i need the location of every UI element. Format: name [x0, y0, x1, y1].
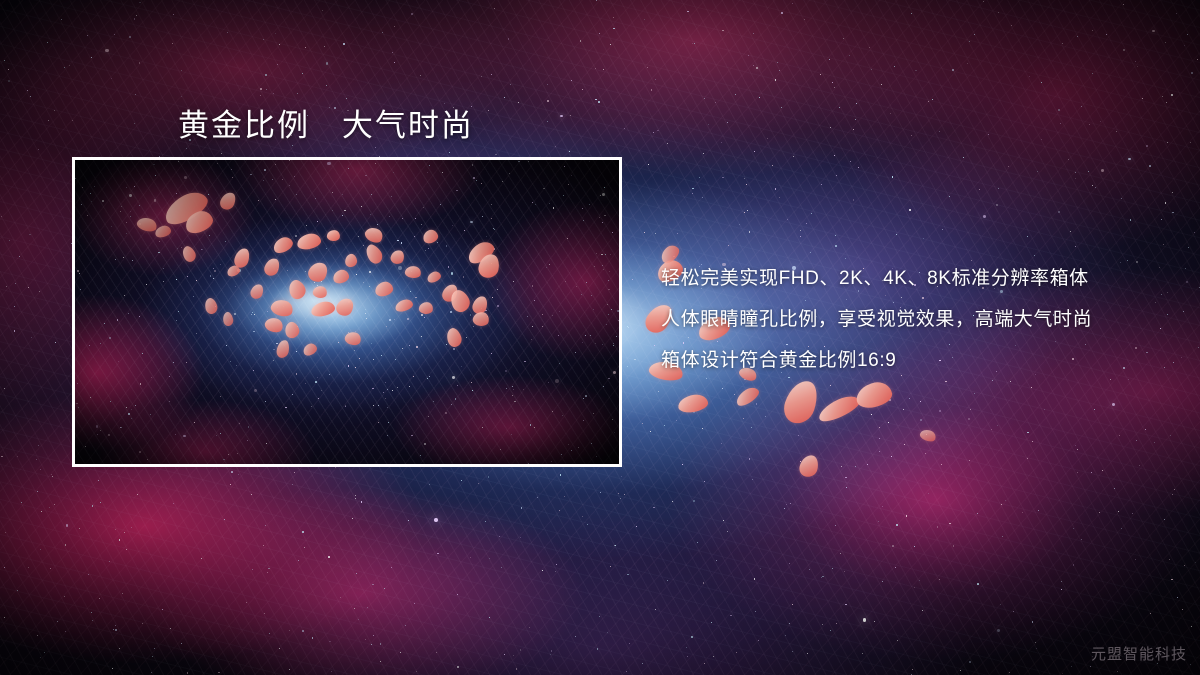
- star: [115, 629, 117, 631]
- star: [273, 360, 274, 361]
- star: [493, 228, 494, 229]
- star: [653, 507, 655, 509]
- star: [154, 648, 155, 649]
- star: [234, 313, 236, 315]
- star: [551, 650, 553, 652]
- star: [416, 671, 417, 672]
- star: [461, 366, 462, 367]
- star: [92, 505, 93, 506]
- star: [542, 326, 543, 327]
- star: [121, 427, 122, 428]
- star: [346, 98, 347, 99]
- star: [209, 235, 210, 236]
- star: [100, 343, 101, 344]
- star: [1101, 169, 1104, 172]
- star: [756, 403, 757, 404]
- star: [1161, 219, 1162, 220]
- star: [221, 153, 222, 154]
- star: [549, 264, 550, 265]
- star: [518, 161, 519, 162]
- star: [1005, 500, 1006, 501]
- star: [102, 200, 104, 202]
- star: [1171, 579, 1172, 580]
- star: [612, 419, 613, 420]
- star: [326, 85, 327, 86]
- star: [723, 520, 724, 521]
- star: [752, 479, 753, 480]
- star: [451, 404, 452, 405]
- star: [50, 568, 51, 569]
- star: [411, 13, 413, 15]
- star: [1092, 185, 1093, 186]
- star: [1044, 409, 1045, 410]
- star: [551, 461, 552, 462]
- star: [542, 570, 543, 571]
- star: [1145, 429, 1146, 430]
- star: [491, 218, 492, 219]
- star: [832, 82, 833, 83]
- star: [36, 459, 37, 460]
- star: [324, 46, 325, 47]
- star: [213, 268, 214, 269]
- star: [501, 567, 502, 568]
- star: [40, 469, 41, 470]
- star: [1152, 30, 1154, 32]
- star: [650, 431, 651, 432]
- star: [135, 405, 136, 406]
- star: [497, 289, 498, 290]
- star: [382, 32, 383, 33]
- star: [85, 446, 86, 447]
- star: [92, 620, 93, 621]
- star: [598, 101, 600, 103]
- star: [427, 172, 428, 173]
- star: [214, 270, 216, 272]
- star: [429, 376, 430, 377]
- star: [721, 443, 722, 444]
- star: [38, 149, 39, 150]
- star: [237, 453, 238, 454]
- star: [1075, 172, 1076, 173]
- star: [1073, 564, 1074, 565]
- star: [326, 248, 327, 249]
- star: [486, 236, 487, 237]
- star: [583, 398, 584, 399]
- star: [266, 465, 267, 466]
- star: [547, 84, 548, 85]
- star: [210, 275, 211, 276]
- star: [275, 199, 276, 200]
- star: [72, 120, 73, 121]
- star: [453, 348, 455, 350]
- star: [564, 496, 565, 497]
- star: [608, 289, 609, 290]
- star: [1073, 528, 1074, 529]
- star: [581, 294, 582, 295]
- star: [158, 252, 160, 254]
- star: [250, 174, 251, 175]
- star: [49, 507, 50, 508]
- star: [387, 435, 388, 436]
- star: [176, 320, 177, 321]
- star: [667, 143, 668, 144]
- star: [296, 194, 297, 195]
- star: [514, 401, 515, 402]
- star: [1070, 231, 1071, 232]
- star: [571, 175, 572, 176]
- star: [134, 186, 135, 187]
- star: [753, 65, 754, 66]
- star: [968, 418, 970, 420]
- star: [703, 153, 704, 154]
- star: [289, 630, 290, 631]
- star: [124, 295, 125, 296]
- star: [409, 386, 410, 387]
- star: [99, 598, 100, 599]
- star: [77, 383, 78, 384]
- star: [613, 345, 614, 346]
- star: [532, 285, 534, 287]
- star: [792, 604, 793, 605]
- star: [289, 669, 290, 670]
- petal: [780, 376, 822, 427]
- star: [531, 339, 532, 340]
- star: [613, 343, 614, 344]
- star: [1116, 131, 1117, 132]
- star: [457, 666, 459, 668]
- star: [463, 276, 464, 277]
- star: [534, 300, 535, 301]
- star: [983, 215, 986, 218]
- star: [461, 480, 462, 481]
- star: [1100, 121, 1101, 122]
- star: [377, 224, 378, 225]
- star: [356, 274, 357, 275]
- star: [967, 63, 968, 64]
- star: [425, 250, 426, 251]
- star: [201, 249, 202, 250]
- star: [457, 385, 458, 386]
- star: [664, 425, 665, 426]
- star: [610, 566, 611, 567]
- star: [489, 617, 490, 618]
- star: [1041, 82, 1042, 83]
- star: [375, 163, 376, 164]
- star: [820, 74, 821, 75]
- star: [969, 661, 971, 663]
- star: [311, 406, 312, 407]
- star: [1117, 671, 1118, 672]
- star: [621, 476, 623, 478]
- star: [672, 501, 673, 502]
- star: [528, 161, 529, 162]
- star: [862, 653, 863, 654]
- star: [361, 206, 362, 207]
- star: [31, 337, 32, 338]
- star: [442, 172, 443, 173]
- star: [785, 635, 786, 636]
- star: [858, 167, 859, 168]
- star: [530, 424, 531, 425]
- star: [1062, 673, 1063, 674]
- star: [920, 419, 922, 421]
- star: [329, 374, 330, 375]
- star: [775, 79, 776, 80]
- star: [528, 463, 529, 464]
- star: [648, 164, 649, 165]
- star: [1119, 435, 1120, 436]
- star: [126, 407, 127, 408]
- star: [433, 401, 434, 402]
- star: [543, 188, 544, 189]
- star: [176, 193, 177, 194]
- star: [175, 434, 176, 435]
- star: [559, 311, 560, 312]
- star: [355, 498, 356, 499]
- star: [492, 297, 493, 298]
- star: [642, 663, 643, 664]
- star: [224, 519, 225, 520]
- star: [548, 382, 549, 383]
- star: [914, 546, 915, 547]
- star: [897, 640, 898, 641]
- star: [604, 187, 605, 188]
- star: [845, 477, 847, 479]
- star: [52, 476, 53, 477]
- star: [131, 527, 132, 528]
- star: [318, 398, 319, 399]
- star: [208, 194, 209, 195]
- star: [295, 235, 297, 237]
- star: [111, 226, 112, 227]
- star: [246, 602, 247, 603]
- star: [392, 52, 393, 53]
- star: [697, 542, 698, 543]
- star: [371, 644, 372, 645]
- star: [904, 444, 905, 445]
- star: [749, 458, 750, 459]
- star: [596, 253, 597, 254]
- star: [128, 413, 129, 414]
- star: [482, 427, 483, 428]
- star: [1162, 96, 1163, 97]
- star: [542, 314, 543, 315]
- star: [181, 96, 182, 97]
- star: [449, 152, 450, 153]
- star: [839, 107, 840, 108]
- star: [436, 652, 437, 653]
- star: [571, 450, 572, 451]
- star: [129, 36, 131, 38]
- star: [450, 311, 452, 313]
- star: [1163, 244, 1164, 245]
- star: [911, 135, 912, 136]
- star: [751, 427, 752, 428]
- star: [172, 43, 173, 44]
- star: [1058, 109, 1060, 111]
- star: [363, 282, 365, 284]
- star: [1161, 294, 1162, 295]
- star: [600, 492, 601, 493]
- star: [920, 401, 921, 402]
- star: [383, 392, 384, 393]
- star: [97, 434, 98, 435]
- star: [779, 197, 780, 198]
- star: [1013, 611, 1015, 613]
- star: [386, 326, 387, 327]
- star: [470, 314, 471, 315]
- star: [473, 326, 474, 327]
- star: [903, 409, 904, 410]
- star: [139, 316, 140, 317]
- star: [655, 609, 656, 610]
- star: [607, 304, 608, 305]
- star: [686, 647, 687, 648]
- star: [589, 204, 590, 205]
- star: [1061, 589, 1062, 590]
- star: [104, 323, 105, 324]
- star: [201, 558, 202, 559]
- star: [704, 481, 705, 482]
- star: [600, 195, 601, 196]
- star: [235, 286, 236, 287]
- star: [119, 648, 120, 649]
- star: [746, 184, 747, 185]
- star: [228, 454, 229, 455]
- star: [510, 84, 511, 85]
- star: [420, 75, 421, 76]
- star: [890, 113, 891, 114]
- star: [1172, 494, 1173, 495]
- star: [562, 415, 563, 416]
- star: [137, 494, 138, 495]
- star: [1172, 192, 1173, 193]
- star: [784, 508, 785, 509]
- star: [478, 483, 479, 484]
- star: [409, 345, 410, 346]
- star: [1081, 106, 1082, 107]
- star: [306, 225, 307, 226]
- star: [273, 349, 274, 350]
- star: [521, 507, 522, 508]
- star: [589, 161, 590, 162]
- star: [565, 281, 566, 282]
- star: [6, 286, 7, 287]
- star: [488, 476, 489, 477]
- star: [139, 62, 141, 64]
- star: [4, 567, 5, 568]
- star: [564, 166, 565, 167]
- star: [391, 196, 392, 197]
- star: [604, 215, 605, 216]
- star: [120, 211, 121, 212]
- star: [599, 616, 600, 617]
- star: [1187, 34, 1188, 35]
- star: [1077, 36, 1078, 37]
- star: [739, 224, 740, 225]
- star: [550, 654, 551, 655]
- star: [1181, 357, 1182, 358]
- star: [1182, 609, 1183, 610]
- star: [840, 553, 841, 554]
- star: [354, 350, 355, 351]
- star: [1061, 581, 1062, 582]
- star: [253, 370, 254, 371]
- star: [196, 280, 197, 281]
- star: [491, 204, 492, 205]
- star: [485, 521, 486, 522]
- star: [655, 233, 656, 234]
- star: [15, 283, 16, 284]
- star: [730, 615, 731, 616]
- star: [131, 409, 132, 410]
- star: [298, 560, 299, 561]
- star: [193, 296, 194, 297]
- star: [123, 257, 124, 258]
- star: [708, 124, 709, 125]
- star: [227, 32, 228, 33]
- star: [583, 420, 584, 421]
- star: [19, 256, 20, 257]
- star: [266, 89, 267, 90]
- star: [613, 371, 616, 374]
- star: [911, 13, 912, 14]
- star: [555, 571, 556, 572]
- star: [939, 579, 940, 580]
- star: [896, 524, 898, 526]
- star: [282, 179, 283, 180]
- star: [17, 590, 18, 591]
- star: [494, 8, 495, 9]
- star: [415, 297, 417, 299]
- star: [1167, 314, 1168, 315]
- star: [247, 440, 248, 441]
- star: [202, 249, 203, 250]
- star: [593, 309, 594, 310]
- star: [575, 636, 576, 637]
- star: [1071, 666, 1072, 667]
- star: [361, 501, 363, 503]
- star: [606, 324, 607, 325]
- star: [767, 138, 768, 139]
- star: [14, 330, 15, 331]
- star: [446, 344, 447, 345]
- star: [511, 434, 512, 435]
- body-line: 人体眼睛瞳孔比例，享受视觉效果，高端大气时尚: [661, 299, 1161, 340]
- star: [585, 335, 586, 336]
- star: [919, 580, 920, 581]
- star: [844, 571, 845, 572]
- star: [1123, 49, 1125, 51]
- star: [1121, 528, 1122, 529]
- petal: [854, 380, 894, 411]
- star: [217, 163, 218, 164]
- star: [314, 282, 315, 283]
- star: [344, 210, 346, 212]
- star: [582, 516, 583, 517]
- star: [117, 319, 118, 320]
- star: [135, 94, 136, 95]
- star: [100, 430, 101, 431]
- star: [162, 609, 163, 610]
- star: [464, 230, 465, 231]
- star: [1139, 465, 1140, 466]
- star: [394, 62, 395, 63]
- star: [173, 362, 174, 363]
- star: [1135, 559, 1136, 560]
- star: [429, 484, 430, 485]
- star: [273, 93, 274, 94]
